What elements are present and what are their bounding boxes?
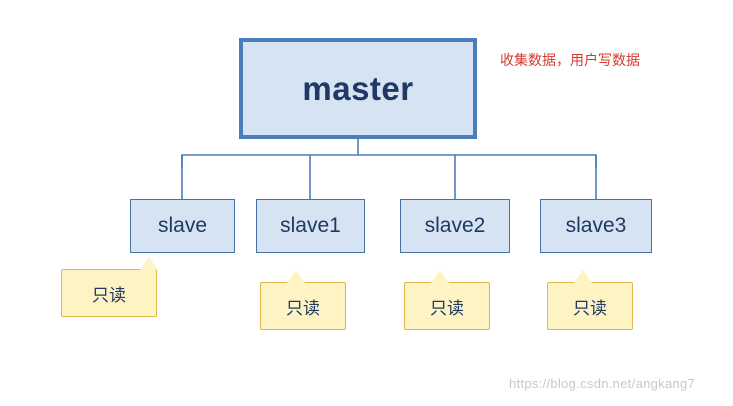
callout-readonly-slave2: 只读 <box>404 282 490 330</box>
node-slave: slave <box>130 199 235 253</box>
callout-readonly-slave1-label: 只读 <box>286 294 320 319</box>
node-slave2-label: slave2 <box>425 214 486 238</box>
node-slave1-label: slave1 <box>280 214 341 238</box>
callout-readonly-slave: 只读 <box>61 269 157 317</box>
node-master-label: master <box>302 70 413 108</box>
callout-tail-icon <box>431 270 449 283</box>
node-slave-label: slave <box>158 214 207 238</box>
callout-readonly-slave1: 只读 <box>260 282 346 330</box>
callout-readonly-slave3: 只读 <box>547 282 633 330</box>
callout-tail-icon <box>574 270 592 283</box>
annotation-master-note: 收集数据，用户写数据 <box>500 50 640 70</box>
callout-tail-icon <box>140 257 158 270</box>
node-slave3: slave3 <box>540 199 652 253</box>
node-slave2: slave2 <box>400 199 510 253</box>
callout-readonly-slave3-label: 只读 <box>573 294 607 319</box>
connector-bus <box>182 155 596 168</box>
node-slave3-label: slave3 <box>566 214 627 238</box>
callout-tail-icon <box>287 270 305 283</box>
watermark: https://blog.csdn.net/angkang7 <box>509 376 695 391</box>
node-slave1: slave1 <box>256 199 365 253</box>
diagram-canvas: master slave slave1 slave2 slave3 只读 只读 … <box>0 0 733 406</box>
node-master: master <box>239 38 477 139</box>
callout-readonly-slave-label: 只读 <box>92 281 126 306</box>
callout-readonly-slave2-label: 只读 <box>430 294 464 319</box>
